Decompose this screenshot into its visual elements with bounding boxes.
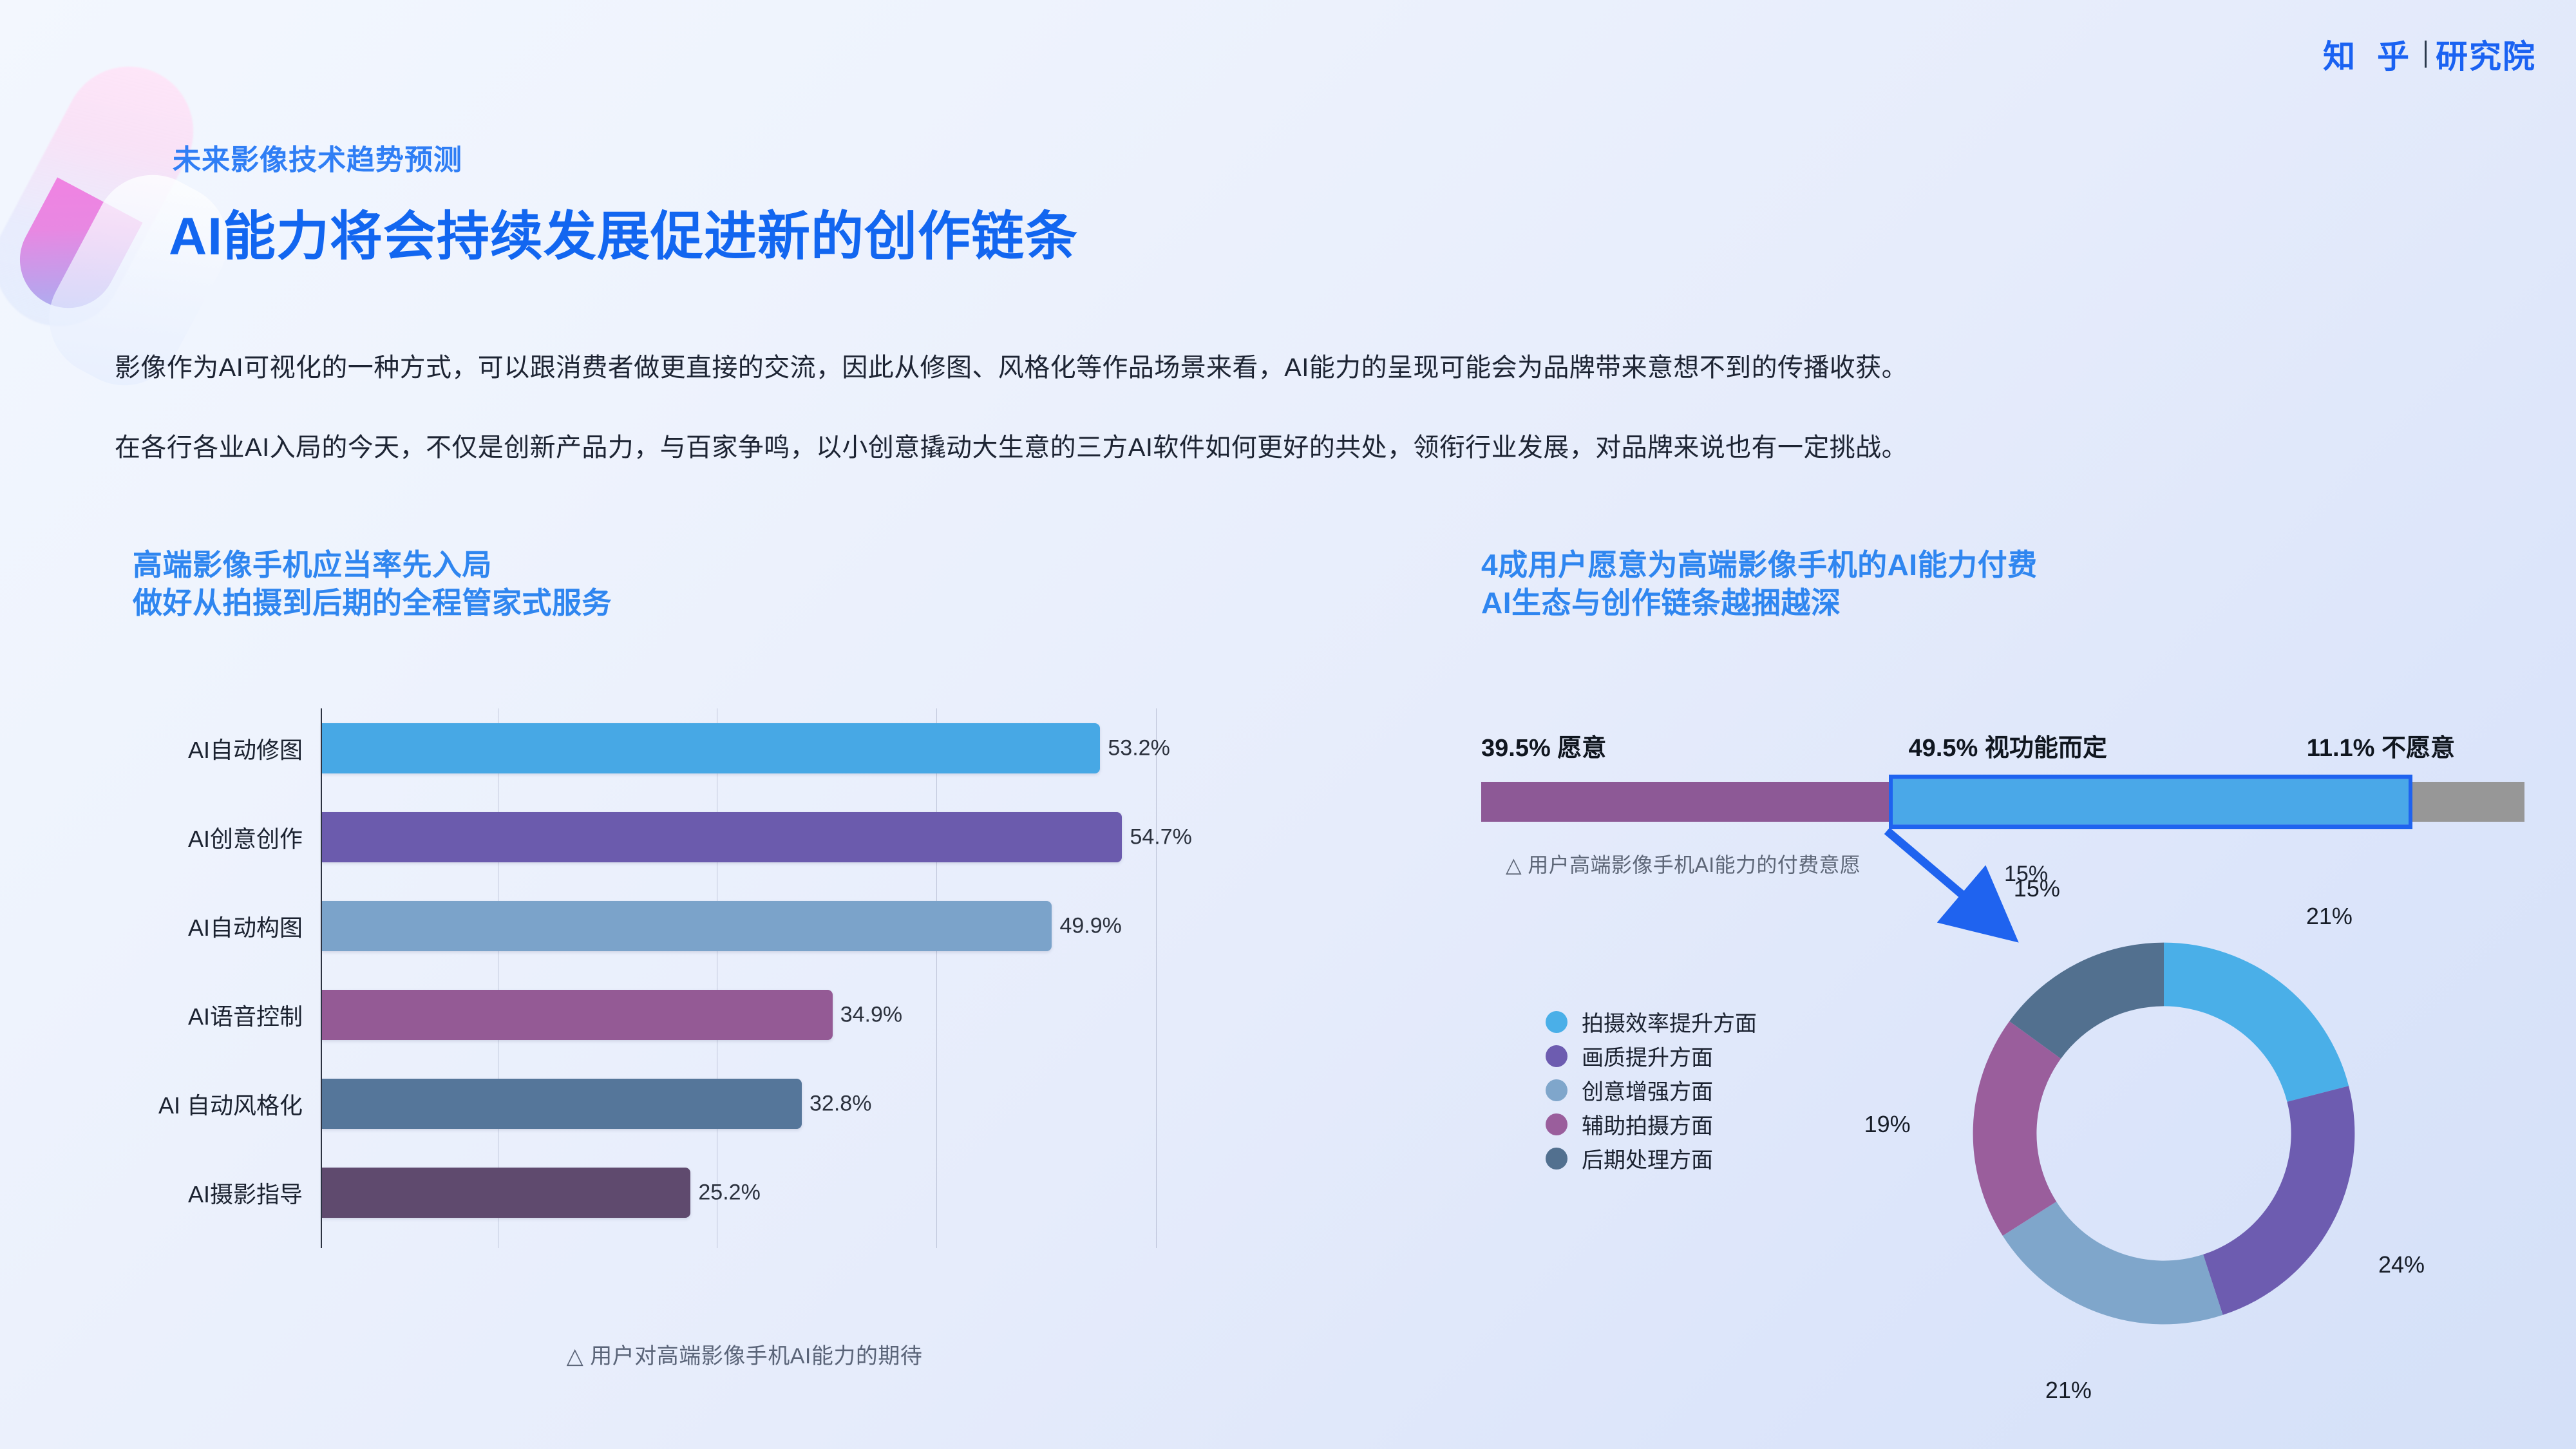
donut-value-label-1: 24% bbox=[2378, 1251, 2425, 1278]
bar-chart-category-label: AI语音控制 bbox=[188, 998, 303, 1032]
stacked-bar-track bbox=[1481, 782, 2524, 822]
left-section-title-line2: 做好从拍摄到后期的全程管家式服务 bbox=[133, 584, 612, 622]
bar-chart-bar bbox=[322, 812, 1122, 862]
donut-slice-1 bbox=[2203, 1086, 2354, 1315]
bar-chart-caption: △ 用户对高端影像手机AI能力的期待 bbox=[113, 1338, 1376, 1370]
body-paragraph-2: 在各行各业AI入局的今天，不仅是创新产品力，与百家争鸣，以小创意撬动大生意的三方… bbox=[115, 426, 1908, 464]
bar-chart-category-label: AI自动构图 bbox=[188, 909, 303, 943]
donut-value-label-2: 21% bbox=[2045, 1377, 2092, 1404]
body-paragraph-1: 影像作为AI可视化的一种方式，可以跟消费者做更直接的交流，因此从修图、风格化等作… bbox=[115, 346, 1908, 384]
legend-item-3[interactable]: 辅助拍摄方面 bbox=[1546, 1107, 1757, 1141]
bar-chart-bar bbox=[322, 990, 833, 1040]
bar-chart-bar bbox=[322, 901, 1052, 951]
legend-item-4[interactable]: 后期处理方面 bbox=[1546, 1141, 1757, 1175]
bar-chart-category-label: AI 自动风格化 bbox=[158, 1087, 303, 1121]
stacked-bar-segment-2 bbox=[2409, 782, 2524, 822]
bar-chart-bar bbox=[322, 1168, 690, 1218]
legend-color-swatch-icon bbox=[1546, 1079, 1567, 1101]
bar-chart-category-label: AI自动修图 bbox=[188, 732, 303, 765]
stacked-bar-label-0: 39.5% 愿意 bbox=[1481, 728, 1606, 763]
bar-chart-row: AI摄影指导25.2% bbox=[113, 1160, 1376, 1225]
eyebrow-title: 未来影像技术趋势预测 bbox=[173, 137, 462, 178]
payment-willingness-stacked-bar: 39.5% 愿意49.5% 视功能而定11.1% 不愿意 bbox=[1481, 728, 2524, 822]
stacked-bar-label-2: 11.1% 不愿意 bbox=[2307, 728, 2455, 763]
logo-divider bbox=[2425, 41, 2427, 68]
bar-chart-value-label: 34.9% bbox=[840, 1003, 902, 1028]
bar-chart-row: AI语音控制34.9% bbox=[113, 983, 1376, 1047]
bar-chart-category-label: AI创意创作 bbox=[188, 820, 303, 854]
donut-legend: 拍摄效率提升方面画质提升方面创意增强方面辅助拍摄方面后期处理方面 bbox=[1546, 1005, 1757, 1175]
legend-item-label: 画质提升方面 bbox=[1582, 1040, 1713, 1072]
left-section-title-line1: 高端影像手机应当率先入局 bbox=[133, 548, 492, 582]
bar-chart-category-label: AI摄影指导 bbox=[188, 1176, 303, 1209]
legend-item-label: 创意增强方面 bbox=[1582, 1074, 1713, 1106]
bar-chart-bar bbox=[322, 1079, 802, 1129]
bar-chart-value-label: 32.8% bbox=[810, 1092, 871, 1117]
page-title: AI能力将会持续发展促进新的创作链条 bbox=[169, 193, 1078, 270]
left-section-title: 高端影像手机应当率先入局 做好从拍摄到后期的全程管家式服务 bbox=[133, 546, 612, 622]
ai-benefit-donut-chart bbox=[1919, 889, 2409, 1378]
donut-svg bbox=[1919, 889, 2409, 1378]
logo-text-research: 研究院 bbox=[2436, 31, 2536, 77]
right-section-title-line2: AI生态与创作链条越捆越深 bbox=[1481, 584, 2038, 622]
bar-chart-value-label: 54.7% bbox=[1130, 825, 1191, 850]
legend-item-label: 拍摄效率提升方面 bbox=[1582, 1006, 1757, 1037]
deco-shape-pink bbox=[3, 177, 143, 325]
expectation-bar-chart: AI自动修图53.2%AI创意创作54.7%AI自动构图49.9%AI语音控制3… bbox=[113, 696, 1376, 1294]
legend-item-1[interactable]: 画质提升方面 bbox=[1546, 1039, 1757, 1073]
donut-value-label-4: 15% bbox=[2014, 875, 2060, 902]
legend-color-swatch-icon bbox=[1546, 1011, 1567, 1033]
legend-item-label: 后期处理方面 bbox=[1582, 1142, 1713, 1174]
stacked-bar-caption: △ 用户高端影像手机AI能力的付费意愿 bbox=[1506, 849, 1861, 878]
donut-value-label-0: 21% bbox=[2306, 903, 2353, 930]
right-section-title: 4成用户愿意为高端影像手机的AI能力付费 AI生态与创作链条越捆越深 bbox=[1481, 546, 2038, 622]
bar-chart-row: AI 自动风格化32.8% bbox=[113, 1072, 1376, 1136]
bar-chart-row: AI创意创作54.7% bbox=[113, 805, 1376, 869]
donut-slice-2 bbox=[2003, 1202, 2223, 1325]
stacked-bar-segment-0 bbox=[1481, 782, 1893, 822]
zhihu-research-logo: 知 乎 研究院 bbox=[2323, 31, 2536, 77]
legend-color-swatch-icon bbox=[1546, 1113, 1567, 1135]
legend-color-swatch-icon bbox=[1546, 1045, 1567, 1067]
right-section-title-line1: 4成用户愿意为高端影像手机的AI能力付费 bbox=[1481, 548, 2038, 582]
logo-text-zhihu: 知 乎 bbox=[2323, 31, 2416, 77]
bar-chart-value-label: 49.9% bbox=[1059, 914, 1121, 939]
donut-slice-0 bbox=[2164, 943, 2349, 1102]
bar-chart-value-label: 53.2% bbox=[1108, 736, 1170, 761]
bar-chart-row: AI自动构图49.9% bbox=[113, 894, 1376, 958]
donut-slice-3 bbox=[1973, 1021, 2061, 1236]
legend-item-0[interactable]: 拍摄效率提升方面 bbox=[1546, 1005, 1757, 1039]
bar-chart-bar bbox=[322, 723, 1100, 773]
donut-value-label-3: 19% bbox=[1864, 1111, 1911, 1138]
legend-item-2[interactable]: 创意增强方面 bbox=[1546, 1073, 1757, 1107]
stacked-bar-label-1: 49.5% 视功能而定 bbox=[1909, 728, 2107, 763]
bar-chart-value-label: 25.2% bbox=[698, 1180, 760, 1206]
legend-color-swatch-icon bbox=[1546, 1148, 1567, 1170]
legend-item-label: 辅助拍摄方面 bbox=[1582, 1108, 1713, 1140]
stacked-bar-segment-1 bbox=[1893, 779, 2409, 825]
bar-chart-row: AI自动修图53.2% bbox=[113, 716, 1376, 781]
stacked-bar-labels: 39.5% 愿意49.5% 视功能而定11.1% 不愿意 bbox=[1481, 728, 2524, 768]
